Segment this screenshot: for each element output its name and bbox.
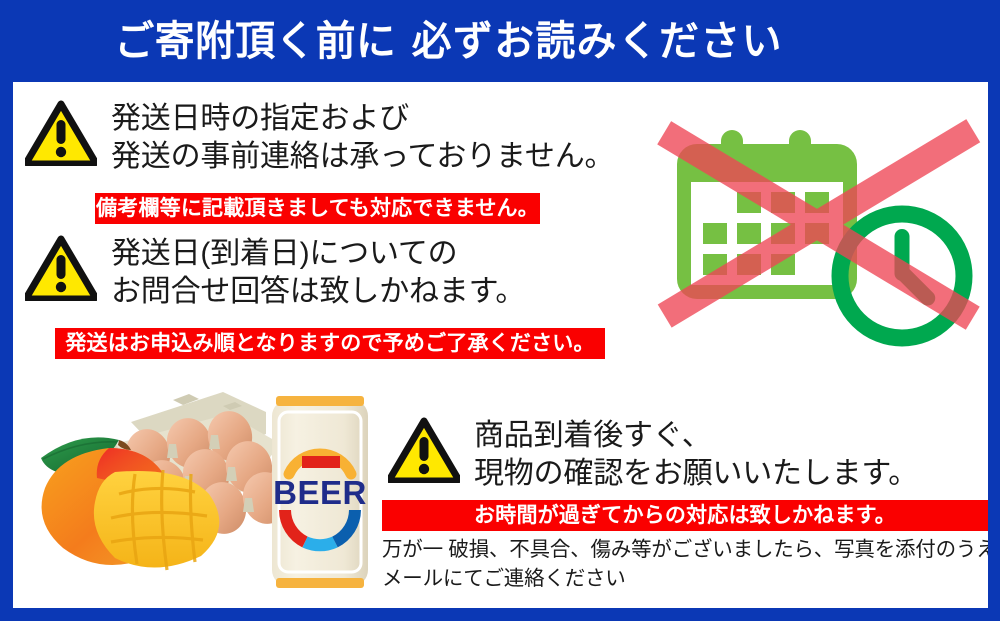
warning-triangle-icon (25, 100, 97, 166)
footnote-text: 万が一 破損、不具合、傷み等がございましたら、写真を添付のうえ メールにてご連絡… (382, 535, 988, 593)
warning-line: 発送日時の指定および (111, 100, 614, 138)
warning-triangle-icon (25, 235, 97, 301)
warning-text: 発送日(到着日)についての お問合せ回答は致しかねます。 (111, 235, 525, 311)
warning-row: 発送日(到着日)についての お問合せ回答は致しかねます。 (25, 235, 525, 311)
warning-line: お問合せ回答は致しかねます。 (111, 273, 525, 311)
page-title-part2: 必ずお読みください (412, 18, 783, 64)
page-title-part1: ご寄附頂く前に (114, 18, 396, 64)
page-title: ご寄附頂く前に必ずお読みください (0, 21, 783, 62)
warning-text: 商品到着後すぐ、 現物の確認をお願いいたします。 (474, 417, 918, 493)
warning-line: 発送の事前連絡は承っておりません。 (111, 138, 614, 176)
footnote-line-1: 万が一 破損、不具合、傷み等がございましたら、写真を添付のうえ (382, 535, 988, 564)
content-card: 発送日時の指定および 発送の事前連絡は承っておりません。 備考欄等に記載頂きまし… (13, 82, 988, 608)
warning-row: 発送日時の指定および 発送の事前連絡は承っておりません。 (25, 100, 614, 176)
warning-block-delivery-inquiry: 発送日(到着日)についての お問合せ回答は致しかねます。 (25, 235, 525, 311)
red-banner: お時間が過ぎてからの対応は致しかねます。 (382, 500, 988, 531)
warning-line: 発送日(到着日)についての (111, 235, 525, 273)
warning-text: 発送日時の指定および 発送の事前連絡は承っておりません。 (111, 100, 614, 176)
warning-block-check-on-arrival: 商品到着後すぐ、 現物の確認をお願いいたします。 (388, 417, 918, 493)
svg-text:BEER: BEER (273, 474, 367, 511)
warning-line: 商品到着後すぐ、 (474, 417, 918, 455)
food-items-illustration: BEER (23, 382, 378, 602)
red-banner: 発送はお申込み順となりますので予めご了承ください。 (55, 328, 605, 359)
footnote-line-2: メールにてご連絡ください (382, 564, 988, 593)
warning-triangle-icon (388, 417, 460, 483)
warning-line: 現物の確認をお願いいたします。 (474, 455, 918, 493)
warning-block-shipping-date: 発送日時の指定および 発送の事前連絡は承っておりません。 (25, 100, 614, 176)
beer-can-icon: BEER (272, 396, 368, 588)
calendar-clock-crossed-out-illustration (645, 96, 988, 361)
notice-poster: ご寄附頂く前に必ずお読みください 発送日時の指定および 発送の事前連絡は承ってお… (0, 0, 1000, 621)
red-banner: 備考欄等に記載頂きましても対応できません。 (95, 193, 540, 224)
warning-row: 商品到着後すぐ、 現物の確認をお願いいたします。 (388, 417, 918, 493)
header-band: ご寄附頂く前に必ずお読みください (0, 0, 1000, 82)
